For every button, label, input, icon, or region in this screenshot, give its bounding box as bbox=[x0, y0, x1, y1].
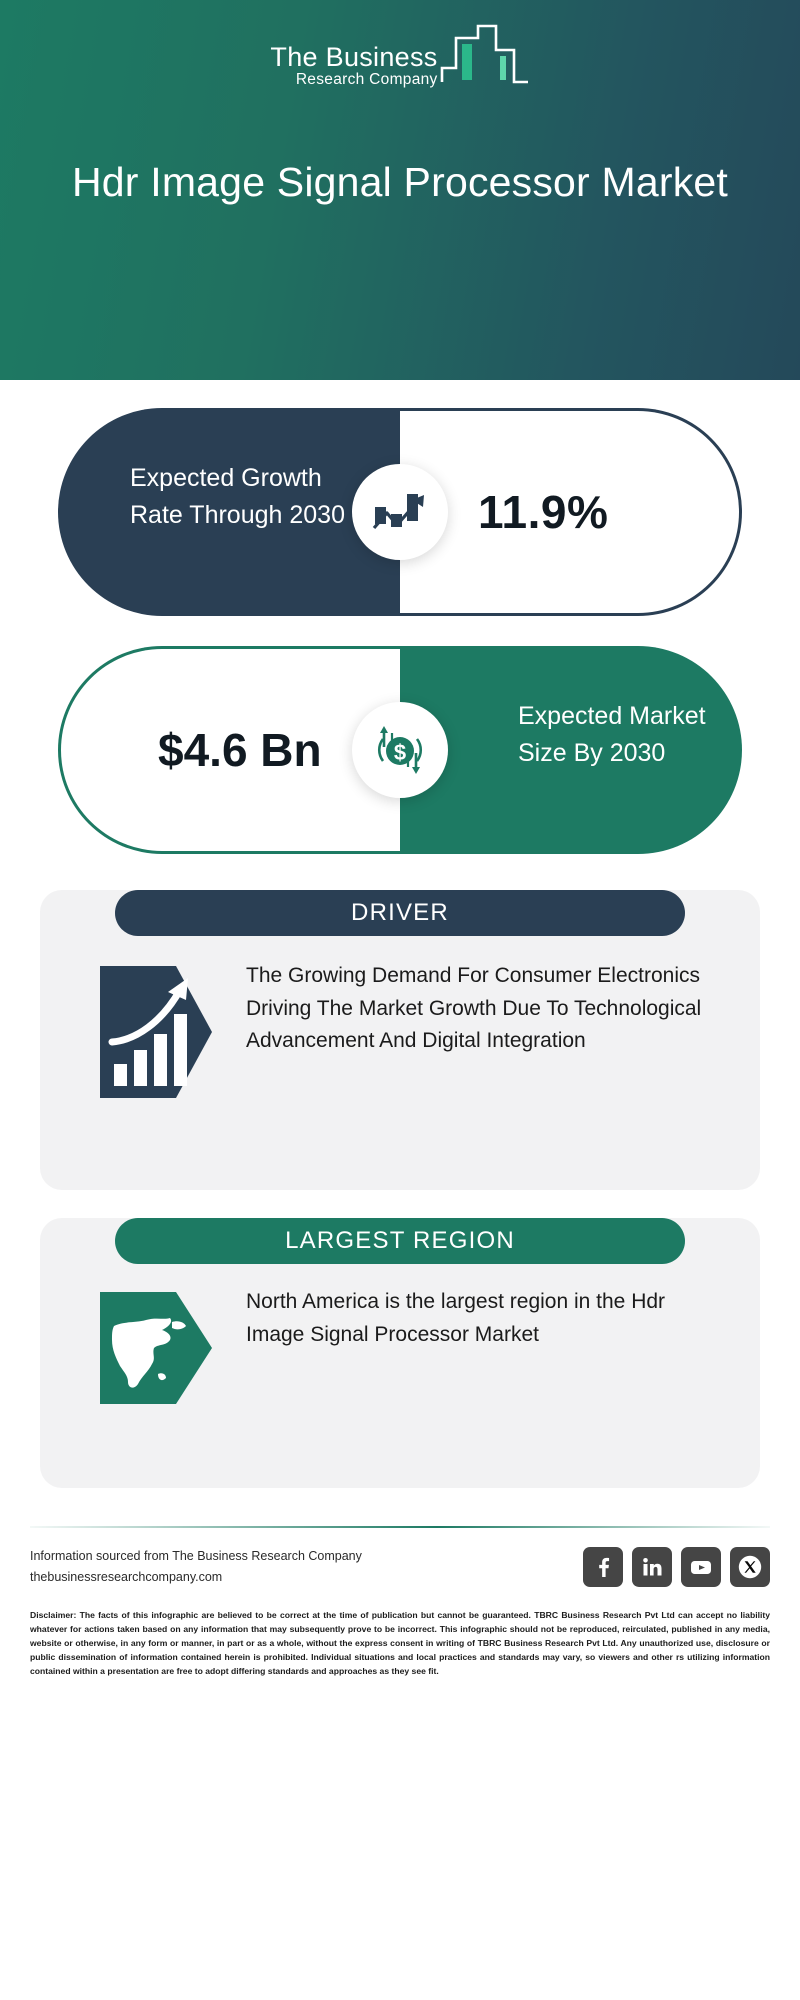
footer-source-line1: Information sourced from The Business Re… bbox=[30, 1546, 362, 1567]
footer-row: Information sourced from The Business Re… bbox=[30, 1546, 770, 1587]
footer-disclaimer: Disclaimer: The facts of this infographi… bbox=[30, 1609, 770, 1679]
facebook-icon[interactable] bbox=[583, 1547, 623, 1587]
logo-secondary-text: Research Company bbox=[296, 71, 438, 90]
youtube-icon[interactable] bbox=[681, 1547, 721, 1587]
north-america-map-icon bbox=[100, 1292, 212, 1404]
social-links bbox=[583, 1547, 770, 1587]
page-title: Hdr Image Signal Processor Market bbox=[70, 157, 730, 207]
stat-card-value: 11.9% bbox=[478, 485, 608, 539]
stat-card-label: Expected Growth Rate Through 2030 bbox=[130, 460, 360, 534]
growth-arrow-chart-icon bbox=[100, 966, 212, 1098]
stat-cards-section: Expected Growth Rate Through 2030 11.9% … bbox=[0, 408, 800, 854]
linkedin-icon[interactable] bbox=[632, 1547, 672, 1587]
panel-largest-region: LARGEST REGION North America is the larg… bbox=[40, 1218, 760, 1488]
bar-chart-growth-icon bbox=[352, 464, 448, 560]
panel-driver: DRIVER The Growing Demand For Consumer E… bbox=[40, 890, 760, 1190]
panel-pill-label: DRIVER bbox=[351, 899, 449, 927]
panel-pill-label: LARGEST REGION bbox=[285, 1227, 515, 1255]
header-banner: The Business Research Company Hdr Image … bbox=[0, 0, 800, 380]
logo-bar-chart-icon bbox=[440, 24, 530, 93]
stat-card-market-size: $4.6 Bn $ Expected Market Size By 2030 bbox=[58, 646, 742, 854]
footer-divider bbox=[30, 1526, 770, 1528]
logo-primary-text: The Business bbox=[270, 43, 437, 71]
company-logo: The Business Research Company bbox=[250, 24, 550, 95]
footer-source: Information sourced from The Business Re… bbox=[30, 1546, 362, 1587]
footer-source-line2[interactable]: thebusinessresearchcompany.com bbox=[30, 1567, 362, 1588]
stat-card-growth-rate: Expected Growth Rate Through 2030 11.9% bbox=[58, 408, 742, 616]
dollar-circulation-icon: $ bbox=[352, 702, 448, 798]
panel-pill-driver: DRIVER bbox=[115, 890, 685, 936]
stat-card-value: $4.6 Bn bbox=[158, 723, 328, 777]
x-twitter-icon[interactable] bbox=[730, 1547, 770, 1587]
stat-card-label: Expected Market Size By 2030 bbox=[518, 698, 733, 772]
panel-description: The Growing Demand For Consumer Electron… bbox=[246, 960, 720, 1058]
panel-pill-largest-region: LARGEST REGION bbox=[115, 1218, 685, 1264]
svg-text:$: $ bbox=[394, 740, 406, 765]
panel-description: North America is the largest region in t… bbox=[246, 1286, 720, 1351]
